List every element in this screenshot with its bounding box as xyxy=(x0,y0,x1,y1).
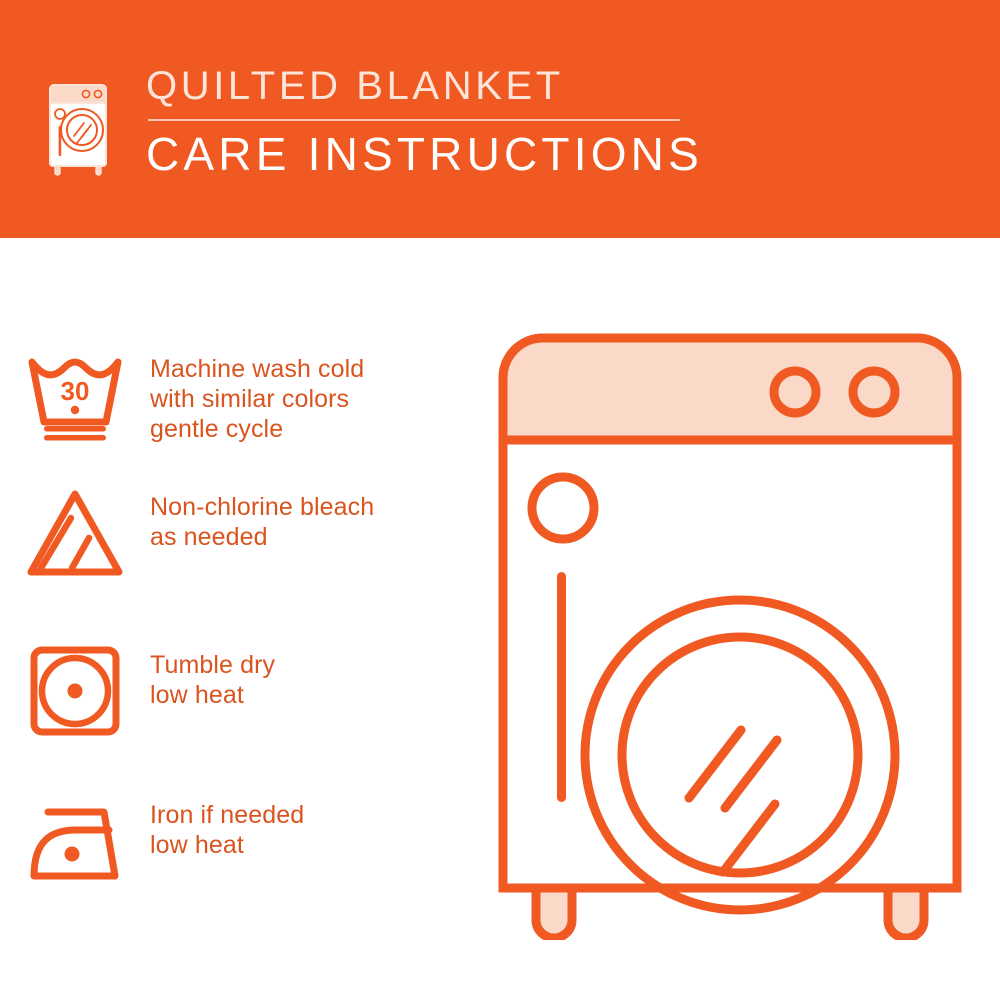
iron-low-heat-icon xyxy=(0,788,150,890)
non-chlorine-bleach-triangle-icon xyxy=(0,480,150,582)
care-instruction-list: 30 Machine wash cold with similar colors… xyxy=(0,238,500,1000)
leg-right xyxy=(888,888,924,938)
care-text-line: low heat xyxy=(150,680,275,710)
door-handle xyxy=(557,572,566,802)
header-text-block: QUILTED BLANKET CARE INSTRUCTIONS xyxy=(146,62,706,181)
care-text-line: Non-chlorine bleach xyxy=(150,492,374,522)
care-text-tumble-dry: Tumble dry low heat xyxy=(150,638,275,710)
care-text-line: Machine wash cold xyxy=(150,354,364,384)
svg-text:30: 30 xyxy=(61,376,90,406)
care-text-line: Tumble dry xyxy=(150,650,275,680)
care-row-tumble-dry: Tumble dry low heat xyxy=(0,638,500,740)
care-text-line: low heat xyxy=(150,830,304,860)
header-banner: QUILTED BLANKET CARE INSTRUCTIONS xyxy=(0,0,1000,238)
care-instructions-page: QUILTED BLANKET CARE INSTRUCTIONS 30 Mac… xyxy=(0,0,1000,1000)
wash-tub-30-gentle-icon: 30 xyxy=(0,342,150,444)
washing-machine-icon xyxy=(44,66,112,178)
care-text-line: gentle cycle xyxy=(150,414,364,444)
care-row-wash: 30 Machine wash cold with similar colors… xyxy=(0,342,500,444)
care-text-line: with similar colors xyxy=(150,384,364,414)
care-row-iron: Iron if needed low heat xyxy=(0,788,500,890)
page-subtitle: CARE INSTRUCTIONS xyxy=(146,127,706,181)
care-text-bleach: Non-chlorine bleach as needed xyxy=(150,480,374,552)
page-title: QUILTED BLANKET xyxy=(146,62,706,110)
care-text-wash: Machine wash cold with similar colors ge… xyxy=(150,342,364,444)
care-text-line: Iron if needed xyxy=(150,800,304,830)
leg-left xyxy=(536,888,572,938)
care-text-line: as needed xyxy=(150,522,374,552)
tumble-dry-low-heat-icon xyxy=(0,638,150,740)
care-text-iron: Iron if needed low heat xyxy=(150,788,304,860)
title-divider xyxy=(148,119,680,121)
front-load-washing-machine-illustration xyxy=(495,330,965,940)
care-row-bleach: Non-chlorine bleach as needed xyxy=(0,480,500,582)
